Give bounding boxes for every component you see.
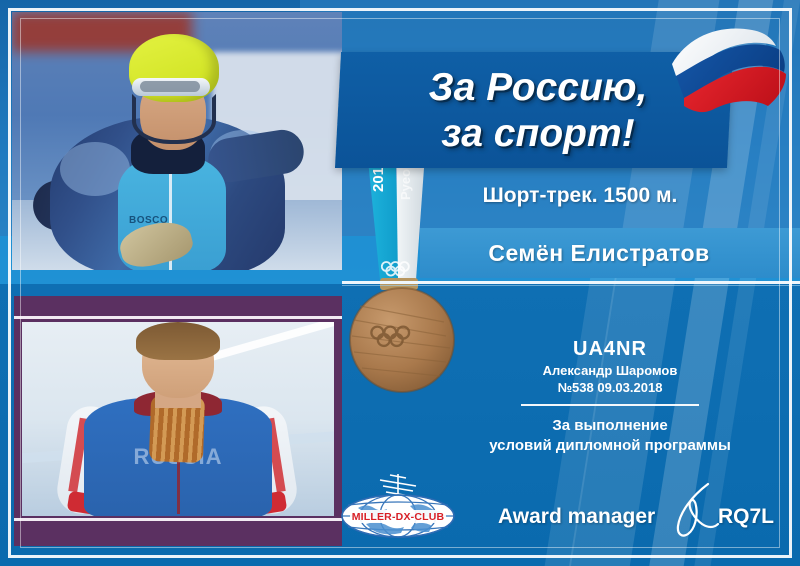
title-line-2: за спорт!: [441, 111, 634, 157]
club-name-text: MILLER-DX-CLUB: [352, 511, 445, 523]
recipient-callsign: UA4NR: [460, 338, 760, 361]
recipient-name: Александр Шаромов: [460, 363, 760, 378]
award-number-and-date: №538 09.03.2018: [460, 380, 760, 395]
photo-frame-rule-top: [14, 316, 342, 319]
award-manager-label: Award manager: [498, 505, 655, 529]
photo-frame-rule-bottom: [14, 518, 342, 521]
russian-flag-ribbon-icon: [668, 18, 792, 118]
photo-short-track-skater: BOSCO: [12, 12, 342, 270]
signature-icon: [668, 482, 724, 542]
athlete-hair: [136, 322, 220, 360]
goggles-lens: [140, 81, 200, 92]
award-reason-line-1: За выполнение: [460, 416, 760, 436]
miller-dx-club-logo-icon: MILLER-DX-CLUB: [336, 472, 460, 538]
award-certificate: BOSCO RUSSIA: [0, 0, 800, 566]
sport-discipline-text: Шорт-трек. 1500 м.: [430, 184, 730, 208]
award-manager-callsign: RQ7L: [718, 505, 774, 529]
mid-divider-rule-shadow: [342, 285, 800, 286]
divider: [521, 404, 699, 406]
athlete-name-text: Семён Елистратов: [420, 228, 778, 278]
title-line-1: За Россию,: [429, 65, 648, 111]
mid-divider-rule: [342, 281, 800, 284]
award-reason-line-2: условий дипломной программы: [460, 436, 760, 456]
recipient-block: UA4NR Александр Шаромов №538 09.03.2018 …: [460, 338, 760, 457]
photo-athlete-portrait: RUSSIA: [22, 322, 334, 516]
